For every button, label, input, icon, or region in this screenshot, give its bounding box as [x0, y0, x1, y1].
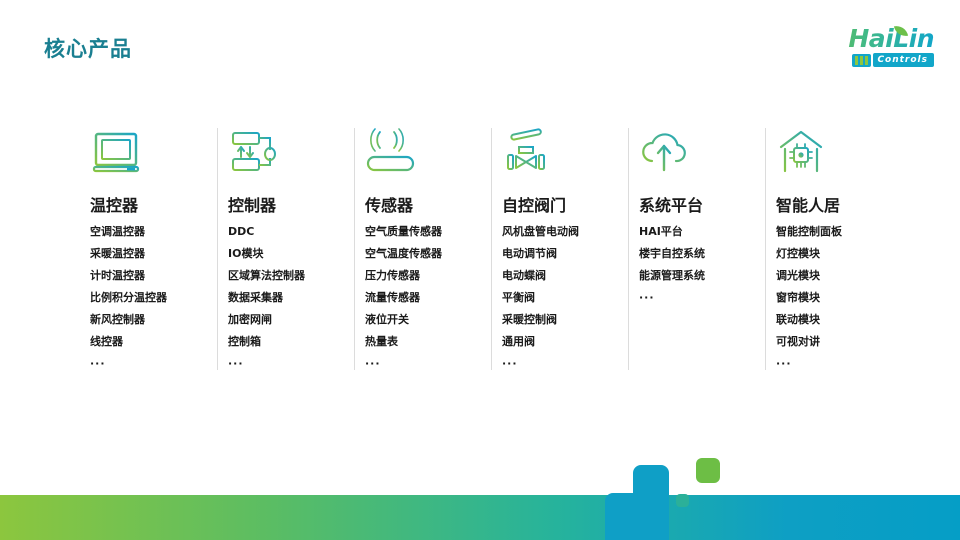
logo-tagline: Controls [873, 53, 934, 67]
product-item: 灯控模块 [776, 247, 902, 260]
product-item: 智能控制面板 [776, 225, 902, 238]
more-indicator: ··· [639, 291, 765, 304]
product-item: DDC [228, 225, 354, 238]
product-item: 流量传感器 [365, 291, 491, 304]
product-column-sensor: 传感器 空气质量传感器 空气温度传感器 压力传感器 流量传感器 液位开关 热量表… [354, 128, 491, 370]
product-item: 计时温控器 [90, 269, 217, 282]
product-item: 热量表 [365, 335, 491, 348]
product-item: 液位开关 [365, 313, 491, 326]
product-item: 窗帘模块 [776, 291, 902, 304]
footer-gradient-bar [0, 495, 960, 540]
column-title: 智能人居 [776, 192, 902, 216]
smart-home-chip-icon [776, 128, 832, 178]
product-item: 平衡阀 [502, 291, 628, 304]
column-title: 控制器 [228, 192, 354, 216]
product-item: 控制箱 [228, 335, 354, 348]
product-item: 调光模块 [776, 269, 902, 282]
column-title: 温控器 [90, 192, 217, 216]
control-valve-icon [502, 128, 558, 178]
column-title: 自控阀门 [502, 192, 628, 216]
product-item: 压力传感器 [365, 269, 491, 282]
product-item: 电动调节阀 [502, 247, 628, 260]
decoration-green-square [696, 458, 720, 483]
cloud-upload-icon [639, 128, 695, 178]
logo-bars-icon [852, 54, 871, 67]
product-column-valve: 自控阀门 风机盘管电动阀 电动调节阀 电动蝶阀 平衡阀 采暖控制阀 通用阀 ··… [491, 128, 628, 370]
product-column-platform: 系统平台 HAI平台 楼宇自控系统 能源管理系统 ··· [628, 128, 765, 370]
product-category-list: 温控器 空调温控器 采暖温控器 计时温控器 比例积分温控器 新风控制器 线控器 … [80, 128, 904, 370]
wireless-sensor-icon [365, 128, 421, 178]
product-item: 能源管理系统 [639, 269, 765, 282]
product-item: 线控器 [90, 335, 217, 348]
more-indicator: ··· [776, 357, 902, 370]
product-item: 空气温度传感器 [365, 247, 491, 260]
more-indicator: ··· [502, 357, 628, 370]
product-item: 联动模块 [776, 313, 902, 326]
product-item: 楼宇自控系统 [639, 247, 765, 260]
product-item: HAI平台 [639, 225, 765, 238]
product-item: IO模块 [228, 247, 354, 260]
page-title: 核心产品 [44, 33, 132, 63]
product-item: 数据采集器 [228, 291, 354, 304]
logo-subbar: Controls [814, 53, 934, 67]
product-item: 空调温控器 [90, 225, 217, 238]
decoration-teal-square [676, 494, 689, 507]
product-column-smart-home: 智能人居 智能控制面板 灯控模块 调光模块 窗帘模块 联动模块 可视对讲 ··· [765, 128, 902, 370]
product-item: 区域算法控制器 [228, 269, 354, 282]
decoration-blue-shape [633, 465, 669, 540]
brand-logo: HaiLin Controls [814, 27, 934, 69]
controller-module-icon [228, 128, 284, 178]
product-item: 比例积分温控器 [90, 291, 217, 304]
product-item: 加密网闸 [228, 313, 354, 326]
column-title: 传感器 [365, 192, 491, 216]
logo-wordmark: HaiLin [814, 27, 934, 51]
product-item: 通用阀 [502, 335, 628, 348]
column-title: 系统平台 [639, 192, 765, 216]
product-item: 采暖温控器 [90, 247, 217, 260]
product-item: 风机盘管电动阀 [502, 225, 628, 238]
monitor-thermostat-icon [90, 128, 146, 178]
more-indicator: ··· [365, 357, 491, 370]
product-item: 电动蝶阀 [502, 269, 628, 282]
more-indicator: ··· [90, 357, 217, 370]
more-indicator: ··· [228, 357, 354, 370]
product-item: 采暖控制阀 [502, 313, 628, 326]
product-item: 可视对讲 [776, 335, 902, 348]
product-item: 新风控制器 [90, 313, 217, 326]
product-item: 空气质量传感器 [365, 225, 491, 238]
product-column-thermostat: 温控器 空调温控器 采暖温控器 计时温控器 比例积分温控器 新风控制器 线控器 … [80, 128, 217, 370]
product-column-controller: 控制器 DDC IO模块 区域算法控制器 数据采集器 加密网闸 控制箱 ··· [217, 128, 354, 370]
